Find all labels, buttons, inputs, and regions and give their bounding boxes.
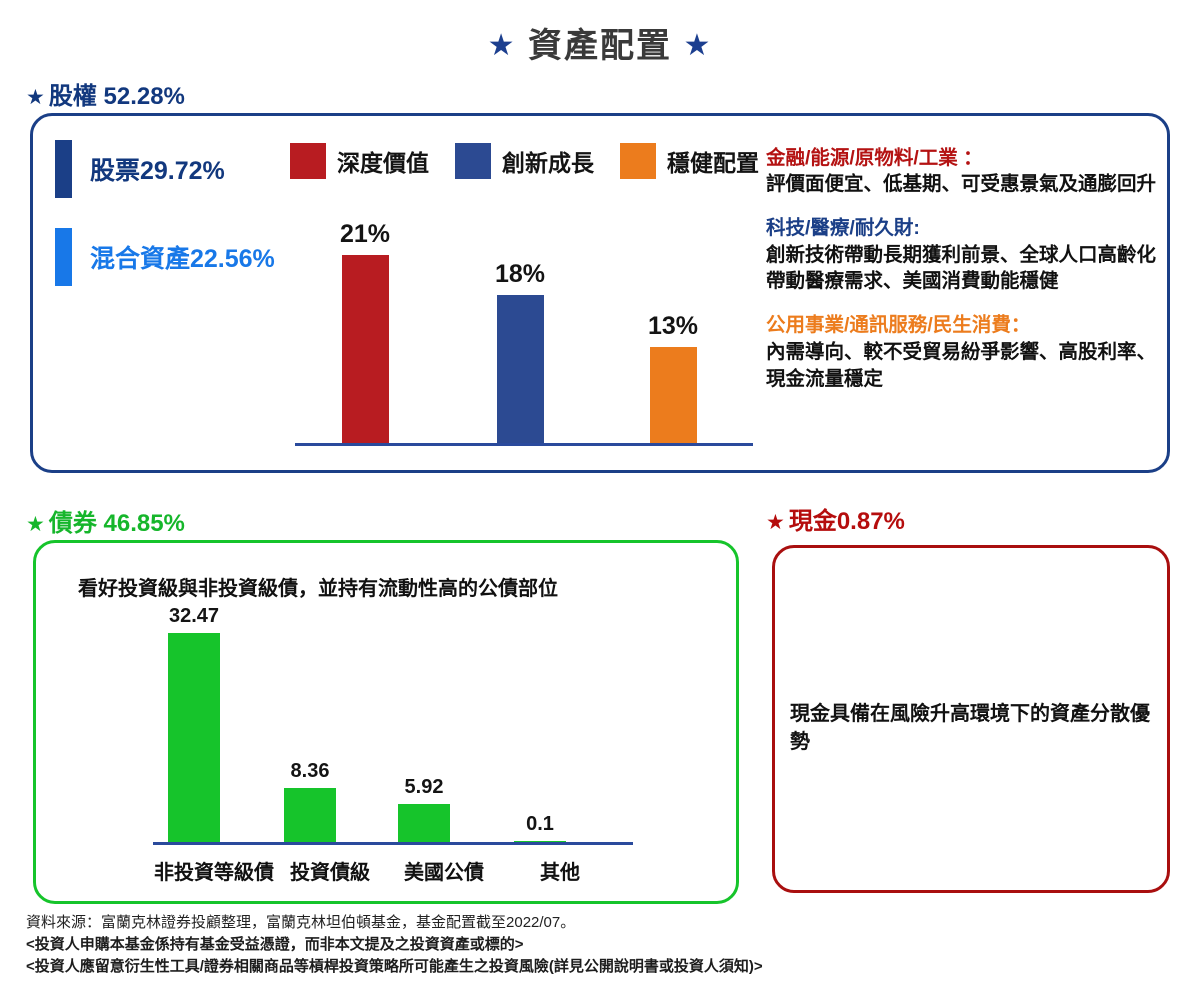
bond-section-header: ★債券 46.85% [26,503,185,538]
legend-item-steady-allocation: 穩健配置 [620,143,759,179]
bond-category-label-0: 非投資等級債 [154,856,274,885]
commentary-body-financials: 評價面便宜、低基期、可受惠景氣及通膨回升 [766,171,1158,198]
equity-bar-chart: 21% 18% 13% [290,200,755,450]
bond-header-text: 債券 46.85% [49,510,185,537]
equity-legend-item-mixed: 混合資產22.56% [55,228,275,286]
cash-description: 現金具備在風險升高環境下的資產分散優勢 [790,700,1150,757]
bond-bar-group-2: 5.92 [374,776,474,842]
bond-bar-chart: 32.47 8.36 5.92 0.1 [150,605,640,845]
commentary-block-financials: 金融/能源/原物料/工業 ： 評價面便宜、低基期、可受惠景氣及通膨回升 [766,145,1158,198]
legend-item-innovation-growth: 創新成長 [455,143,594,179]
equity-header-text: 股權 52.28% [49,83,185,110]
legend-label-deep-value: 深度價值 [337,144,429,178]
bond-bar-3 [514,841,566,842]
equity-section-header: ★股權 52.28% [26,76,185,111]
bond-bar-group-1: 8.36 [260,760,360,842]
bond-category-label-2: 美國公債 [384,856,504,885]
page-title-text: 資產配置 [528,27,672,65]
equity-bar-2 [650,347,697,443]
cash-section-header: ★現金0.87% [766,501,905,536]
legend-swatch-steady-allocation [620,143,656,179]
equity-bar-group-1: 18% [490,260,550,443]
bond-chart-title: 看好投資級與非投資級債，並持有流動性高的公債部位 [78,572,558,601]
commentary-body-utilities: 內需導向、較不受貿易紛爭影響、高股利率、現金流量穩定 [766,339,1158,393]
equity-chart-legend: 深度價值 創新成長 穩健配置 [290,143,785,179]
equity-bar-value-2: 13% [643,312,703,341]
equity-legend-label-mixed: 混合資產22.56% [90,239,275,275]
equity-bar-group-0: 21% [335,220,395,443]
legend-label-steady-allocation: 穩健配置 [667,144,759,178]
commentary-body-tech: 創新技術帶動長期獲利前景、全球人口高齡化帶動醫療需求、美國消費動能穩健 [766,242,1158,296]
bond-bar-0 [168,633,220,842]
star-right-icon: ★ [683,29,712,62]
legend-label-innovation-growth: 創新成長 [502,144,594,178]
equity-commentary: 金融/能源/原物料/工業 ： 評價面便宜、低基期、可受惠景氣及通膨回升 科技/醫… [766,145,1158,409]
page-title: ★ 資產配置 ★ [0,18,1200,67]
commentary-block-utilities: 公用事業/通訊服務/民生消費： 內需導向、較不受貿易紛爭影響、高股利率、現金流量… [766,312,1158,392]
equity-bar-1 [497,295,544,443]
equity-legend-swatch-mixed [55,228,72,286]
legend-swatch-deep-value [290,143,326,179]
star-left-icon: ★ [488,29,517,62]
footer-line-source: 資料來源：富蘭克林證券投顧整理，富蘭克林坦伯頓基金，基金配置截至2022/07。 [26,912,1176,934]
cash-header-text: 現金0.87% [789,508,905,535]
bond-chart-axis [153,842,633,845]
equity-bar-value-0: 21% [335,220,395,249]
equity-legend-item-stocks: 股票29.72% [55,140,225,198]
commentary-heading-tech: 科技/醫療/耐久財: [766,215,1158,241]
bond-bar-value-1: 8.36 [260,760,360,783]
footer-line-notice-2: <投資人應留意衍生性工具/證券相關商品等槓桿投資策略所可能產生之投資風險(詳見公… [26,956,1176,978]
bond-bar-2 [398,804,450,842]
star-icon: ★ [766,511,785,534]
bond-category-label-3: 其他 [500,856,620,885]
legend-item-deep-value: 深度價值 [290,143,429,179]
bond-category-label-1: 投資債級 [270,856,390,885]
bond-bar-group-0: 32.47 [144,605,244,842]
star-icon: ★ [26,513,45,536]
bond-bar-value-0: 32.47 [144,605,244,628]
commentary-heading-utilities: 公用事業/通訊服務/民生消費： [766,312,1158,338]
bond-bar-group-3: 0.1 [490,813,590,842]
bond-bar-value-2: 5.92 [374,776,474,799]
equity-chart-axis [295,443,753,446]
equity-legend-swatch-stocks [55,140,72,198]
equity-bar-group-2: 13% [643,312,703,443]
star-icon: ★ [26,86,45,109]
legend-swatch-innovation-growth [455,143,491,179]
bond-bar-value-3: 0.1 [490,813,590,836]
equity-bar-0 [342,255,389,443]
equity-bar-value-1: 18% [490,260,550,289]
commentary-heading-financials: 金融/能源/原物料/工業 ： [766,145,1158,171]
commentary-block-tech: 科技/醫療/耐久財: 創新技術帶動長期獲利前景、全球人口高齡化帶動醫療需求、美國… [766,215,1158,295]
bond-bar-1 [284,788,336,842]
footer-disclaimer: 資料來源：富蘭克林證券投顧整理，富蘭克林坦伯頓基金，基金配置截至2022/07。… [26,912,1176,977]
equity-legend-label-stocks: 股票29.72% [90,151,225,187]
footer-line-notice-1: <投資人申購本基金係持有基金受益憑證，而非本文提及之投資資產或標的> [26,934,1176,956]
